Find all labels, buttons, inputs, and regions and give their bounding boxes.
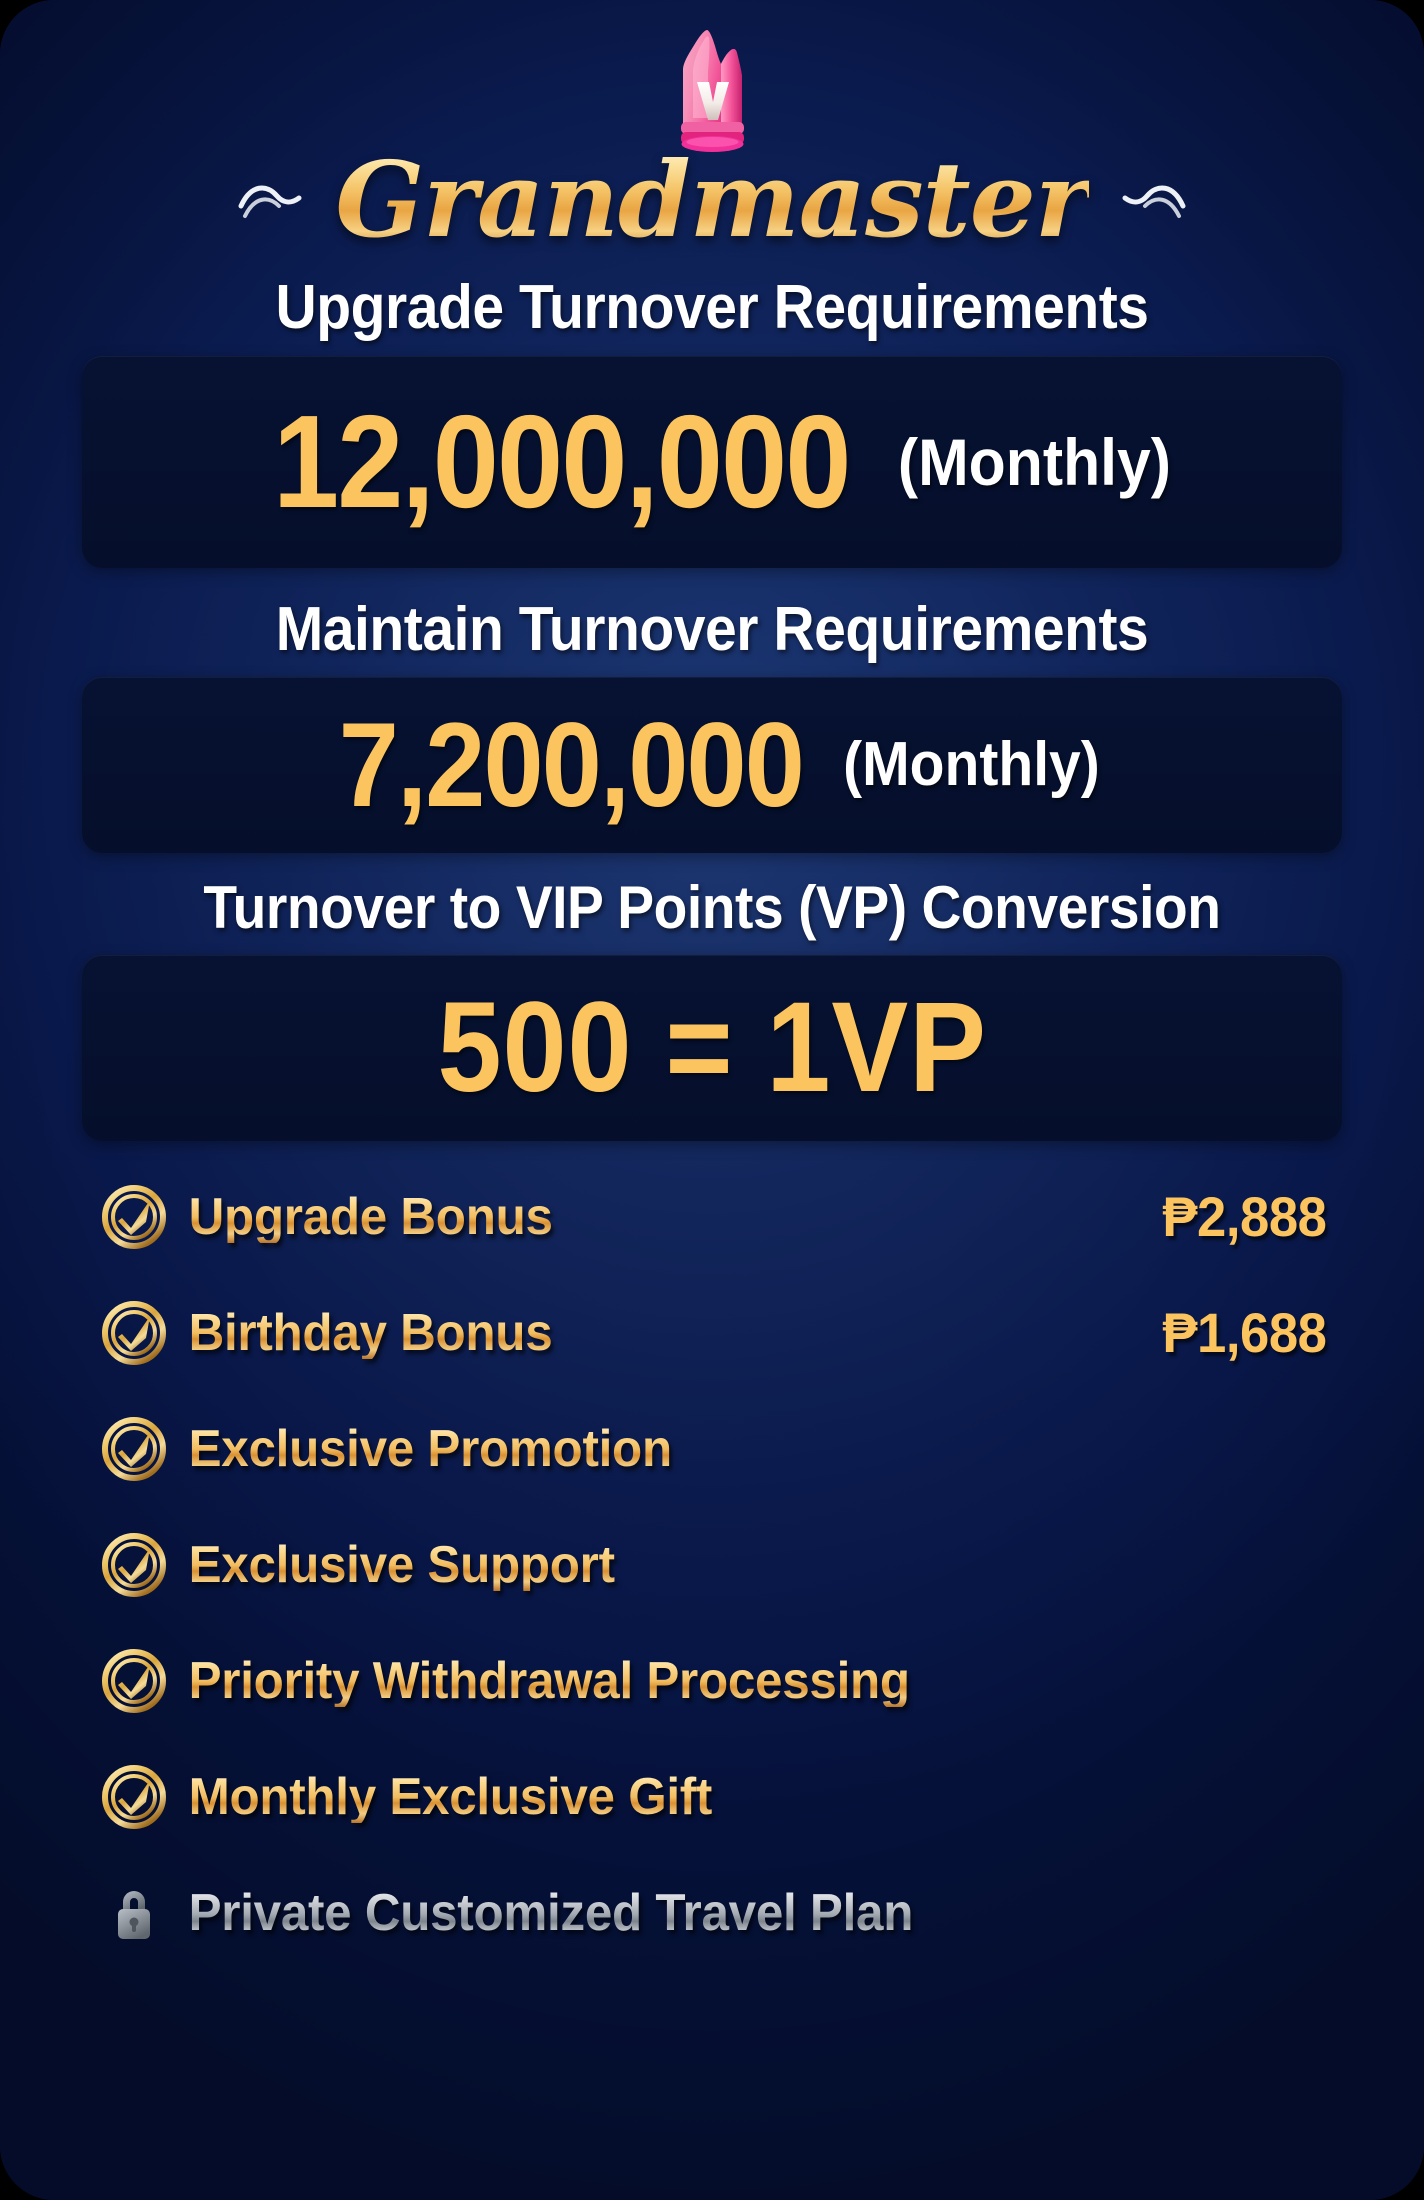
benefit-label: Monthly Exclusive Gift: [181, 1771, 1274, 1823]
check-circle-icon-wrap: [87, 1649, 181, 1713]
check-circle-icon: [102, 1301, 166, 1365]
flourish-left-icon: [237, 170, 321, 230]
conversion-heading: Turnover to VIP Points (VP) Conversion: [57, 877, 1367, 939]
page-title: Grandmaster: [335, 148, 1088, 252]
upgrade-period: (Monthly): [898, 429, 1171, 495]
benefit-row: Birthday Bonus₱1,688: [87, 1275, 1337, 1391]
check-circle-icon-wrap: [87, 1417, 181, 1481]
check-circle-icon-wrap: [87, 1533, 181, 1597]
tier-title-row: Grandmaster: [0, 142, 1424, 258]
check-circle-icon: [102, 1185, 166, 1249]
benefit-value: ₱1,688: [1162, 1305, 1332, 1361]
check-circle-icon: [102, 1533, 166, 1597]
check-circle-icon-wrap: [87, 1301, 181, 1365]
benefit-row: Private Customized Travel Plan: [87, 1855, 1337, 1971]
benefit-row: Exclusive Promotion: [87, 1391, 1337, 1507]
lock-icon: [102, 1881, 166, 1945]
upgrade-amount: 12,000,000: [273, 396, 850, 528]
benefit-row: Exclusive Support: [87, 1507, 1337, 1623]
vip-tier-card: Grandmaster Upgrade Turnover Requirement…: [0, 0, 1424, 2200]
maintain-amount-box: 7,200,000 (Monthly): [82, 677, 1342, 853]
maintain-heading: Maintain Turnover Requirements: [57, 598, 1367, 662]
upgrade-amount-box: 12,000,000 (Monthly): [82, 356, 1342, 568]
lock-icon-wrap: [87, 1881, 181, 1945]
benefit-row: Upgrade Bonus₱2,888: [87, 1159, 1337, 1275]
benefit-row: Monthly Exclusive Gift: [87, 1739, 1337, 1855]
maintain-period: (Monthly): [844, 734, 1101, 796]
check-circle-icon: [102, 1417, 166, 1481]
benefit-row: Priority Withdrawal Processing: [87, 1623, 1337, 1739]
benefit-label: Private Customized Travel Plan: [181, 1887, 1274, 1939]
check-circle-icon-wrap: [87, 1765, 181, 1829]
benefit-label: Exclusive Support: [181, 1539, 1274, 1591]
crown-icon-wrap: [0, 0, 1424, 150]
maintain-amount: 7,200,000: [338, 705, 802, 825]
flourish-right-icon: [1103, 170, 1187, 230]
conversion-amount: 500 = 1VP: [437, 984, 986, 1112]
benefit-label: Upgrade Bonus: [181, 1191, 1108, 1243]
upgrade-heading: Upgrade Turnover Requirements: [57, 276, 1367, 340]
conversion-amount-box: 500 = 1VP: [82, 955, 1342, 1141]
benefit-label: Priority Withdrawal Processing: [181, 1655, 1274, 1707]
benefit-label: Exclusive Promotion: [181, 1423, 1274, 1475]
check-circle-icon: [102, 1649, 166, 1713]
benefit-value: ₱2,888: [1162, 1189, 1332, 1245]
benefits-list: Upgrade Bonus₱2,888 Birthday Bonus₱1,688: [87, 1141, 1337, 1971]
check-circle-icon-wrap: [87, 1185, 181, 1249]
benefit-label: Birthday Bonus: [181, 1307, 1108, 1359]
check-circle-icon: [102, 1765, 166, 1829]
